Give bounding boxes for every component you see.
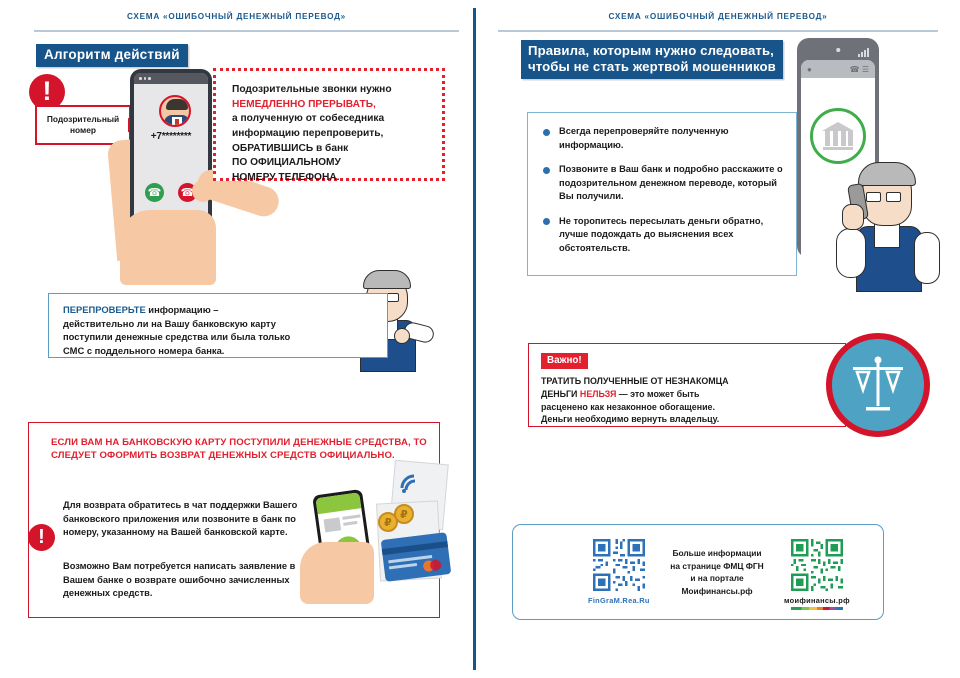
phone-statusbar xyxy=(134,73,208,84)
man-hand-chin xyxy=(394,328,410,344)
rule-item-3: Не торопитесь пересылать деньги обратно,… xyxy=(542,215,784,256)
important-warning-box: Важно! ТРАТИТЬ ПОЛУЧЕННЫЕ ОТ НЕЗНАКОМЦА … xyxy=(528,343,846,427)
qr-info-card: FinGraM.Rea.Ru Больше информации на стра… xyxy=(512,524,884,620)
caller-avatar xyxy=(159,95,191,127)
hand-illustration-front xyxy=(120,210,216,285)
important-line-4: Деньги необходимо вернуть владельцу. xyxy=(541,414,719,424)
phone-menu-icons: ☎ ☰ xyxy=(850,65,869,74)
infographic-page: СХЕМА «ОШИБОЧНЫЙ ДЕНЕЖНЫЙ ПЕРЕВОД» Алгор… xyxy=(0,0,960,678)
dotted-line-4: информацию перепроверить, xyxy=(232,128,383,139)
important-line-2-red: НЕЛЬЗЯ xyxy=(580,389,616,399)
important-line-1: ТРАТИТЬ ПОЛУЧЕННЫЕ ОТ НЕЗНАКОМЦА xyxy=(541,376,729,386)
dotted-line-3: а полученную от собеседника xyxy=(232,113,384,124)
verify-info-text: ПЕРЕПРОВЕРЬТЕ информацию – действительно… xyxy=(63,303,379,357)
caller-number: +7******** xyxy=(134,131,208,142)
hand-holding-payment-phone xyxy=(300,542,374,604)
verify-line-4: СМС с поддельного номера банка. xyxy=(63,345,224,356)
refund-paragraph-2: Возможно Вам потребуется написать заявле… xyxy=(63,560,328,601)
qr-code-moifinansy-icon[interactable] xyxy=(791,539,843,591)
bank-card-illustration xyxy=(381,532,452,582)
man-arm-raised xyxy=(836,228,866,278)
signal-bars-icon xyxy=(858,48,869,57)
suspicious-number-label: Подозрительный номер xyxy=(47,114,119,136)
dotted-callout-text: Подозрительные звонки нужно НЕМЕДЛЕННО П… xyxy=(232,83,432,186)
right-page-header: СХЕМА «ОШИБОЧНЫЙ ДЕНЕЖНЫЙ ПЕРЕВОД» xyxy=(476,12,960,21)
left-panel: СХЕМА «ОШИБОЧНЫЙ ДЕНЕЖНЫЙ ПЕРЕВОД» Алгор… xyxy=(0,0,473,678)
scales-icon xyxy=(845,352,911,418)
rules-list: Всегда перепроверяйте полученную информа… xyxy=(542,125,784,256)
qr-caption-fingram: FinGraM.Rea.Ru xyxy=(588,596,650,605)
dotted-line-5: ОБРАТИВШИСЬ в банк xyxy=(232,143,348,154)
rule-item-1: Всегда перепроверяйте полученную информа… xyxy=(542,125,784,152)
important-line-2b: — это может быть xyxy=(616,389,699,399)
verify-highlight: ПЕРЕПРОВЕРЬТЕ xyxy=(63,304,146,315)
dotted-line-2: НЕМЕДЛЕННО ПРЕРЫВАТЬ, xyxy=(232,99,376,110)
right-header-rule xyxy=(498,30,938,32)
important-line-3: расценено как незаконное обогащение. xyxy=(541,402,715,412)
rule-item-2: Позвоните в Ваш банк и подробно расскажи… xyxy=(542,163,784,204)
contactless-wifi-icon xyxy=(398,470,424,496)
important-text: ТРАТИТЬ ПОЛУЧЕННЫЕ ОТ НЕЗНАКОМЦА ДЕНЬГИ … xyxy=(541,375,805,426)
qr-center-text: Больше информации на странице ФМЦ ФГН и … xyxy=(655,547,779,597)
justice-scales-badge xyxy=(826,333,930,437)
rainbow-underline xyxy=(791,607,843,610)
qr-caption-moifinansy: моифинансы.рф xyxy=(784,596,850,605)
call-accept-icon[interactable]: ☎ xyxy=(145,183,164,202)
qr-block-fingram[interactable]: FinGraM.Rea.Ru xyxy=(588,539,650,605)
account-icon: ● xyxy=(807,65,812,74)
right-header-title: СХЕМА «ОШИБОЧНЫЙ ДЕНЕЖНЫЙ ПЕРЕВОД» xyxy=(476,12,960,21)
qr-code-fingram-icon[interactable] xyxy=(593,539,645,591)
exclamation-icon-2: ! xyxy=(28,524,55,551)
section-title-algorithm: Алгоритм действий xyxy=(36,44,188,67)
man-hair-right xyxy=(858,162,916,186)
dotted-line-6: ПО ОФИЦИАЛЬНОМУ xyxy=(232,157,341,168)
qr-block-moifinansy[interactable]: моифинансы.рф xyxy=(784,539,850,610)
verify-rest-1: информацию – xyxy=(146,304,219,315)
coin-icon-2: ₽ xyxy=(394,504,414,524)
phone-top-bezel xyxy=(801,42,875,60)
suspicious-number-callout: Подозрительный номер xyxy=(35,105,131,145)
man-arm-right-side xyxy=(914,232,940,284)
man-glasses-right-2 xyxy=(886,192,901,202)
verify-line-3: поступили денежные средства или была тол… xyxy=(63,331,290,342)
verify-line-2: действительно ли на Вашу банковскую карт… xyxy=(63,318,276,329)
refund-paragraph-1: Для возврата обратитесь в чат поддержки … xyxy=(63,499,325,540)
finger-tip xyxy=(192,180,214,202)
camera-icon xyxy=(836,48,840,52)
important-tag: Важно! xyxy=(541,353,588,369)
left-header-title: СХЕМА «ОШИБОЧНЫЙ ДЕНЕЖНЫЙ ПЕРЕВОД» xyxy=(0,12,473,21)
dotted-line-1: Подозрительные звонки нужно xyxy=(232,84,392,95)
refund-heading: ЕСЛИ ВАМ НА БАНКОВСКУЮ КАРТУ ПОСТУПИЛИ Д… xyxy=(51,436,429,463)
man-glasses-right-1 xyxy=(866,192,881,202)
section-title-rules: Правила, которым нужно следовать, чтобы … xyxy=(521,40,783,79)
dotted-warning-callout: Подозрительные звонки нужно НЕМЕДЛЕННО П… xyxy=(213,68,445,181)
left-header-rule xyxy=(34,30,459,32)
man-hair xyxy=(363,270,411,289)
left-page-header: СХЕМА «ОШИБОЧНЫЙ ДЕНЕЖНЫЙ ПЕРЕВОД» xyxy=(0,12,473,21)
verify-info-box: ПЕРЕПРОВЕРЬТЕ информацию – действительно… xyxy=(48,293,388,358)
man-hand-right xyxy=(842,204,864,230)
elderly-man-illustration-right xyxy=(834,148,954,293)
important-line-2a: ДЕНЬГИ xyxy=(541,389,580,399)
dotted-line-7: НОМЕРУ ТЕЛЕФОНА. xyxy=(232,172,340,183)
rules-list-card: Всегда перепроверяйте полученную информа… xyxy=(527,112,797,276)
phone-nav-bar: ● ☎ ☰ xyxy=(801,60,875,78)
